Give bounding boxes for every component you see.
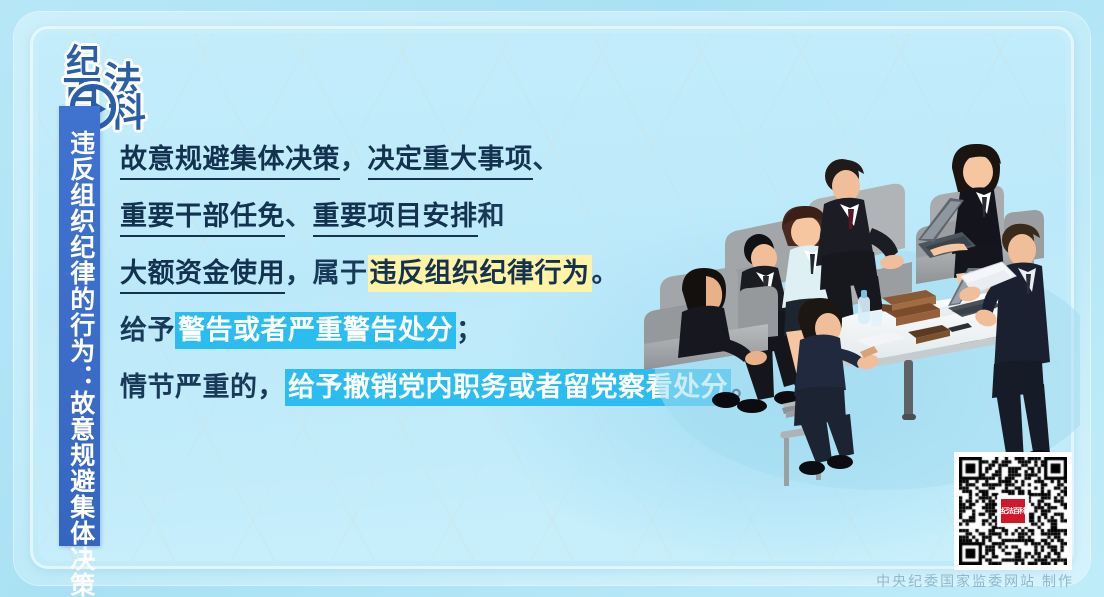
underlined-phrase: 重要项目安排: [313, 201, 478, 237]
credit-text: 中央纪委国家监委网站 制作: [876, 571, 1074, 591]
highlight-cyan-phrase: 警告或者严重警告处分: [175, 312, 456, 349]
plain-text: 、: [285, 201, 313, 231]
vertical-title-text: 违反组织纪律的行为：故意规避集体决策: [64, 130, 95, 597]
qr-logo-mark: 纪法百科: [1001, 499, 1025, 523]
qr-center-logo: 纪法百科: [999, 497, 1027, 525]
business-meeting-illustration: [630, 40, 1080, 510]
plain-text: 给予: [120, 315, 175, 345]
plain-text: ，: [340, 144, 368, 174]
plain-text: ，属于: [285, 258, 368, 288]
plain-text: 情节严重的，: [120, 372, 285, 402]
plain-text: 、: [533, 144, 561, 174]
plain-text: 和: [478, 201, 506, 231]
vertical-title-banner: 违反组织纪律的行为：故意规避集体决策: [59, 106, 100, 546]
qr-code[interactable]: 纪法百科: [954, 452, 1072, 570]
plain-text: ；: [456, 315, 484, 345]
qr-matrix: 纪法百科: [959, 457, 1067, 565]
underlined-phrase: 重要干部任免: [120, 201, 285, 237]
plain-text: 。: [592, 258, 620, 288]
infographic-canvas: 纪 百 法 科 违反组织纪律的行为：故意规避集体决策 故意规避集体决策，决定重大…: [0, 0, 1104, 597]
highlight-yellow-phrase: 违反组织纪律行为: [368, 255, 592, 292]
underlined-phrase: 大额资金使用: [120, 258, 285, 294]
underlined-phrase: 故意规避集体决策: [120, 144, 340, 180]
underlined-phrase: 决定重大事项: [368, 144, 533, 180]
